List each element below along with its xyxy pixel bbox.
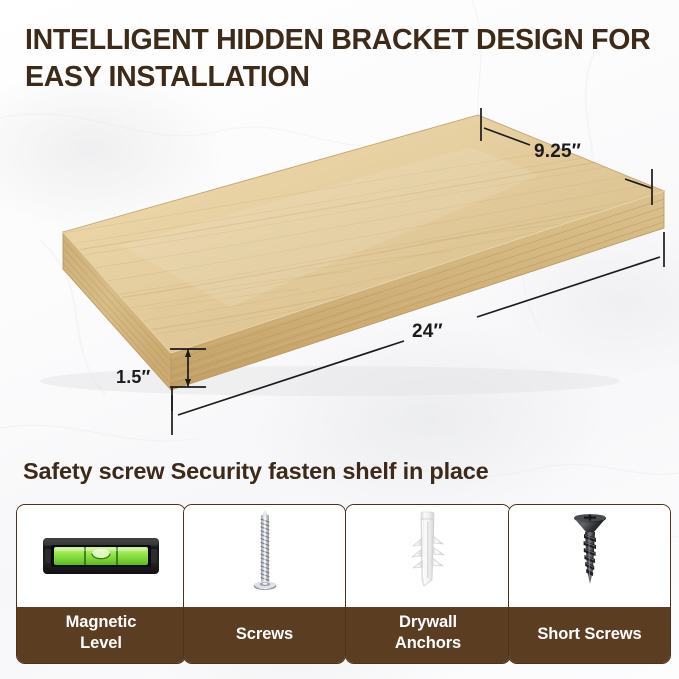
card-label-line-2: Anchors: [395, 634, 461, 652]
drywall-anchor-icon: [402, 508, 454, 604]
accessory-card-short-screws[interactable]: Short Screws: [508, 504, 671, 664]
card-artwork: [346, 505, 510, 607]
card-label-line-2: Level: [80, 634, 122, 652]
card-label: Magnetic Level: [17, 607, 185, 663]
card-label-line-1: Drywall: [399, 613, 457, 631]
long-screw-icon: [245, 508, 285, 604]
card-artwork: [184, 505, 345, 607]
card-label: Screws: [184, 607, 345, 663]
card-label: Short Screws: [509, 607, 670, 663]
dimension-label-depth: 9.25″: [534, 141, 581, 163]
infographic-canvas: INTELLIGENT HIDDEN BRACKET DESIGN FOR EA…: [0, 0, 679, 679]
magnetic-level-icon: [42, 533, 160, 579]
card-label: Drywall Anchors: [346, 607, 510, 663]
accessory-card-row: Magnetic Level: [0, 504, 679, 679]
page-title: INTELLIGENT HIDDEN BRACKET DESIGN FOR EA…: [25, 22, 665, 96]
accessory-card-screws[interactable]: Screws: [183, 504, 346, 664]
card-artwork: [509, 505, 670, 607]
section-subtitle: Safety screw Security fasten shelf in pl…: [23, 458, 489, 485]
card-artwork: [17, 505, 185, 607]
accessory-card-drywall-anchors[interactable]: Drywall Anchors: [345, 504, 511, 664]
dimension-label-height: 1.5″: [116, 367, 150, 388]
dimension-label-width: 24″: [412, 321, 443, 343]
card-label-line-1: Magnetic: [66, 613, 137, 631]
accessory-card-magnetic-level[interactable]: Magnetic Level: [16, 504, 186, 664]
short-screw-icon: [563, 508, 617, 604]
